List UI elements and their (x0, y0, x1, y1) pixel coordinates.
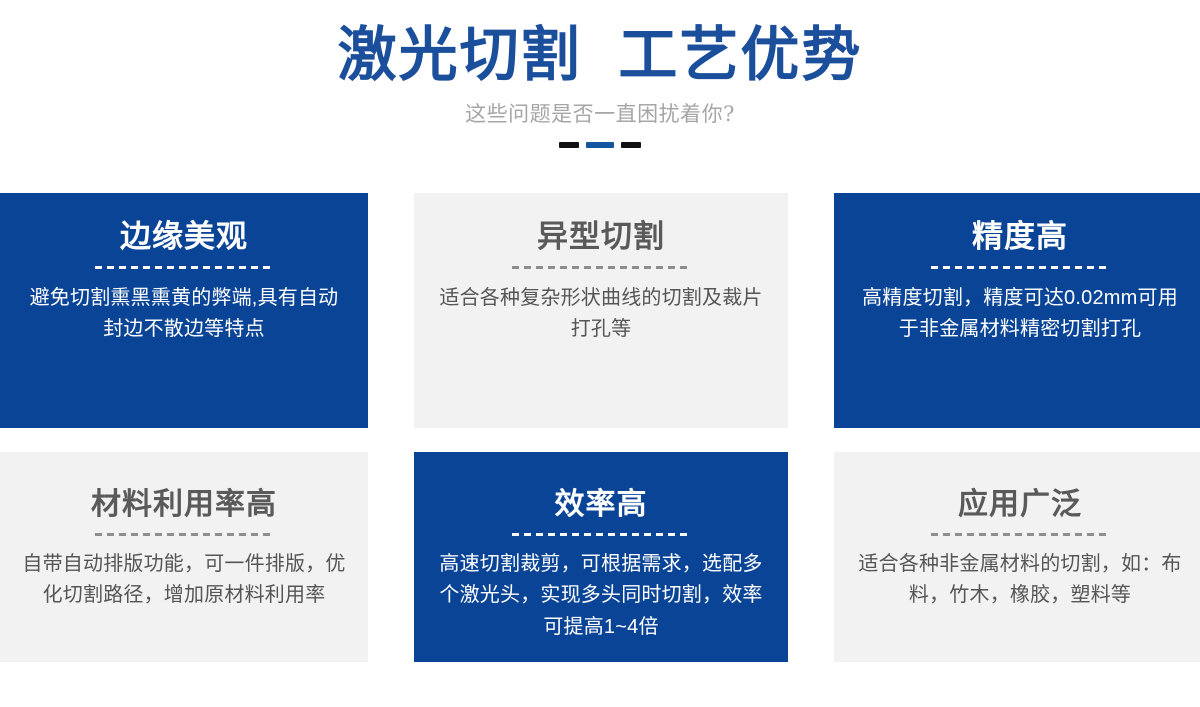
feature-card-shaped-cutting[interactable]: 异型切割 适合各种复杂形状曲线的切割及裁片打孔等 (414, 193, 788, 428)
feature-card-edge-beauty[interactable]: 边缘美观 避免切割熏黑熏黄的弊端,具有自动封边不散边等特点 (0, 193, 368, 428)
page-subtitle: 这些问题是否一直困扰着你? (0, 98, 1200, 128)
card-divider-icon (512, 266, 690, 269)
feature-card-grid: 边缘美观 避免切割熏黑熏黄的弊端,具有自动封边不散边等特点 异型切割 适合各种复… (0, 193, 1200, 662)
card-divider-icon (512, 533, 690, 536)
promo-page: 激光切割 工艺优势 这些问题是否一直困扰着你? 边缘美观 避免切割熏黑熏黄的弊端… (0, 0, 1200, 707)
feature-card-material-utilization[interactable]: 材料利用率高 自带自动排版功能，可一件排版，优化切割路径，增加原材料利用率 (0, 452, 368, 662)
dash-left-icon (559, 142, 579, 148)
card-body: 高速切割裁剪，可根据需求，选配多个激光头，实现多头同时切割，效率可提高1~4倍 (428, 549, 774, 644)
card-body: 避免切割熏黑熏黄的弊端,具有自动封边不散边等特点 (14, 283, 354, 346)
feature-card-high-efficiency[interactable]: 效率高 高速切割裁剪，可根据需求，选配多个激光头，实现多头同时切割，效率可提高1… (414, 452, 788, 662)
card-title: 材料利用率高 (14, 488, 354, 523)
feature-card-wide-application[interactable]: 应用广泛 适合各种非金属材料的切割，如：布料，竹木，橡胶，塑料等 (834, 452, 1200, 662)
card-divider-icon (931, 266, 1109, 269)
card-divider-icon (931, 533, 1109, 536)
card-body: 自带自动排版功能，可一件排版，优化切割路径，增加原材料利用率 (14, 549, 354, 612)
dash-center-icon (586, 142, 614, 148)
card-title: 效率高 (428, 488, 774, 523)
card-divider-icon (95, 533, 273, 536)
card-divider-icon (95, 266, 273, 269)
page-header: 激光切割 工艺优势 这些问题是否一直困扰着你? (0, 0, 1200, 149)
card-body: 高精度切割，精度可达0.02mm可用于非金属材料精密切割打孔 (848, 283, 1192, 346)
card-title: 精度高 (848, 219, 1192, 255)
card-body: 适合各种非金属材料的切割，如：布料，竹木，橡胶，塑料等 (848, 549, 1192, 612)
card-title: 异型切割 (428, 219, 774, 255)
feature-card-high-precision[interactable]: 精度高 高精度切割，精度可达0.02mm可用于非金属材料精密切割打孔 (834, 193, 1200, 428)
dash-right-icon (621, 142, 641, 148)
card-body: 适合各种复杂形状曲线的切割及裁片打孔等 (428, 283, 774, 346)
card-title: 边缘美观 (14, 219, 354, 255)
divider-dashes (0, 141, 1200, 149)
card-title: 应用广泛 (848, 488, 1192, 523)
page-title: 激光切割 工艺优势 (0, 22, 1200, 88)
